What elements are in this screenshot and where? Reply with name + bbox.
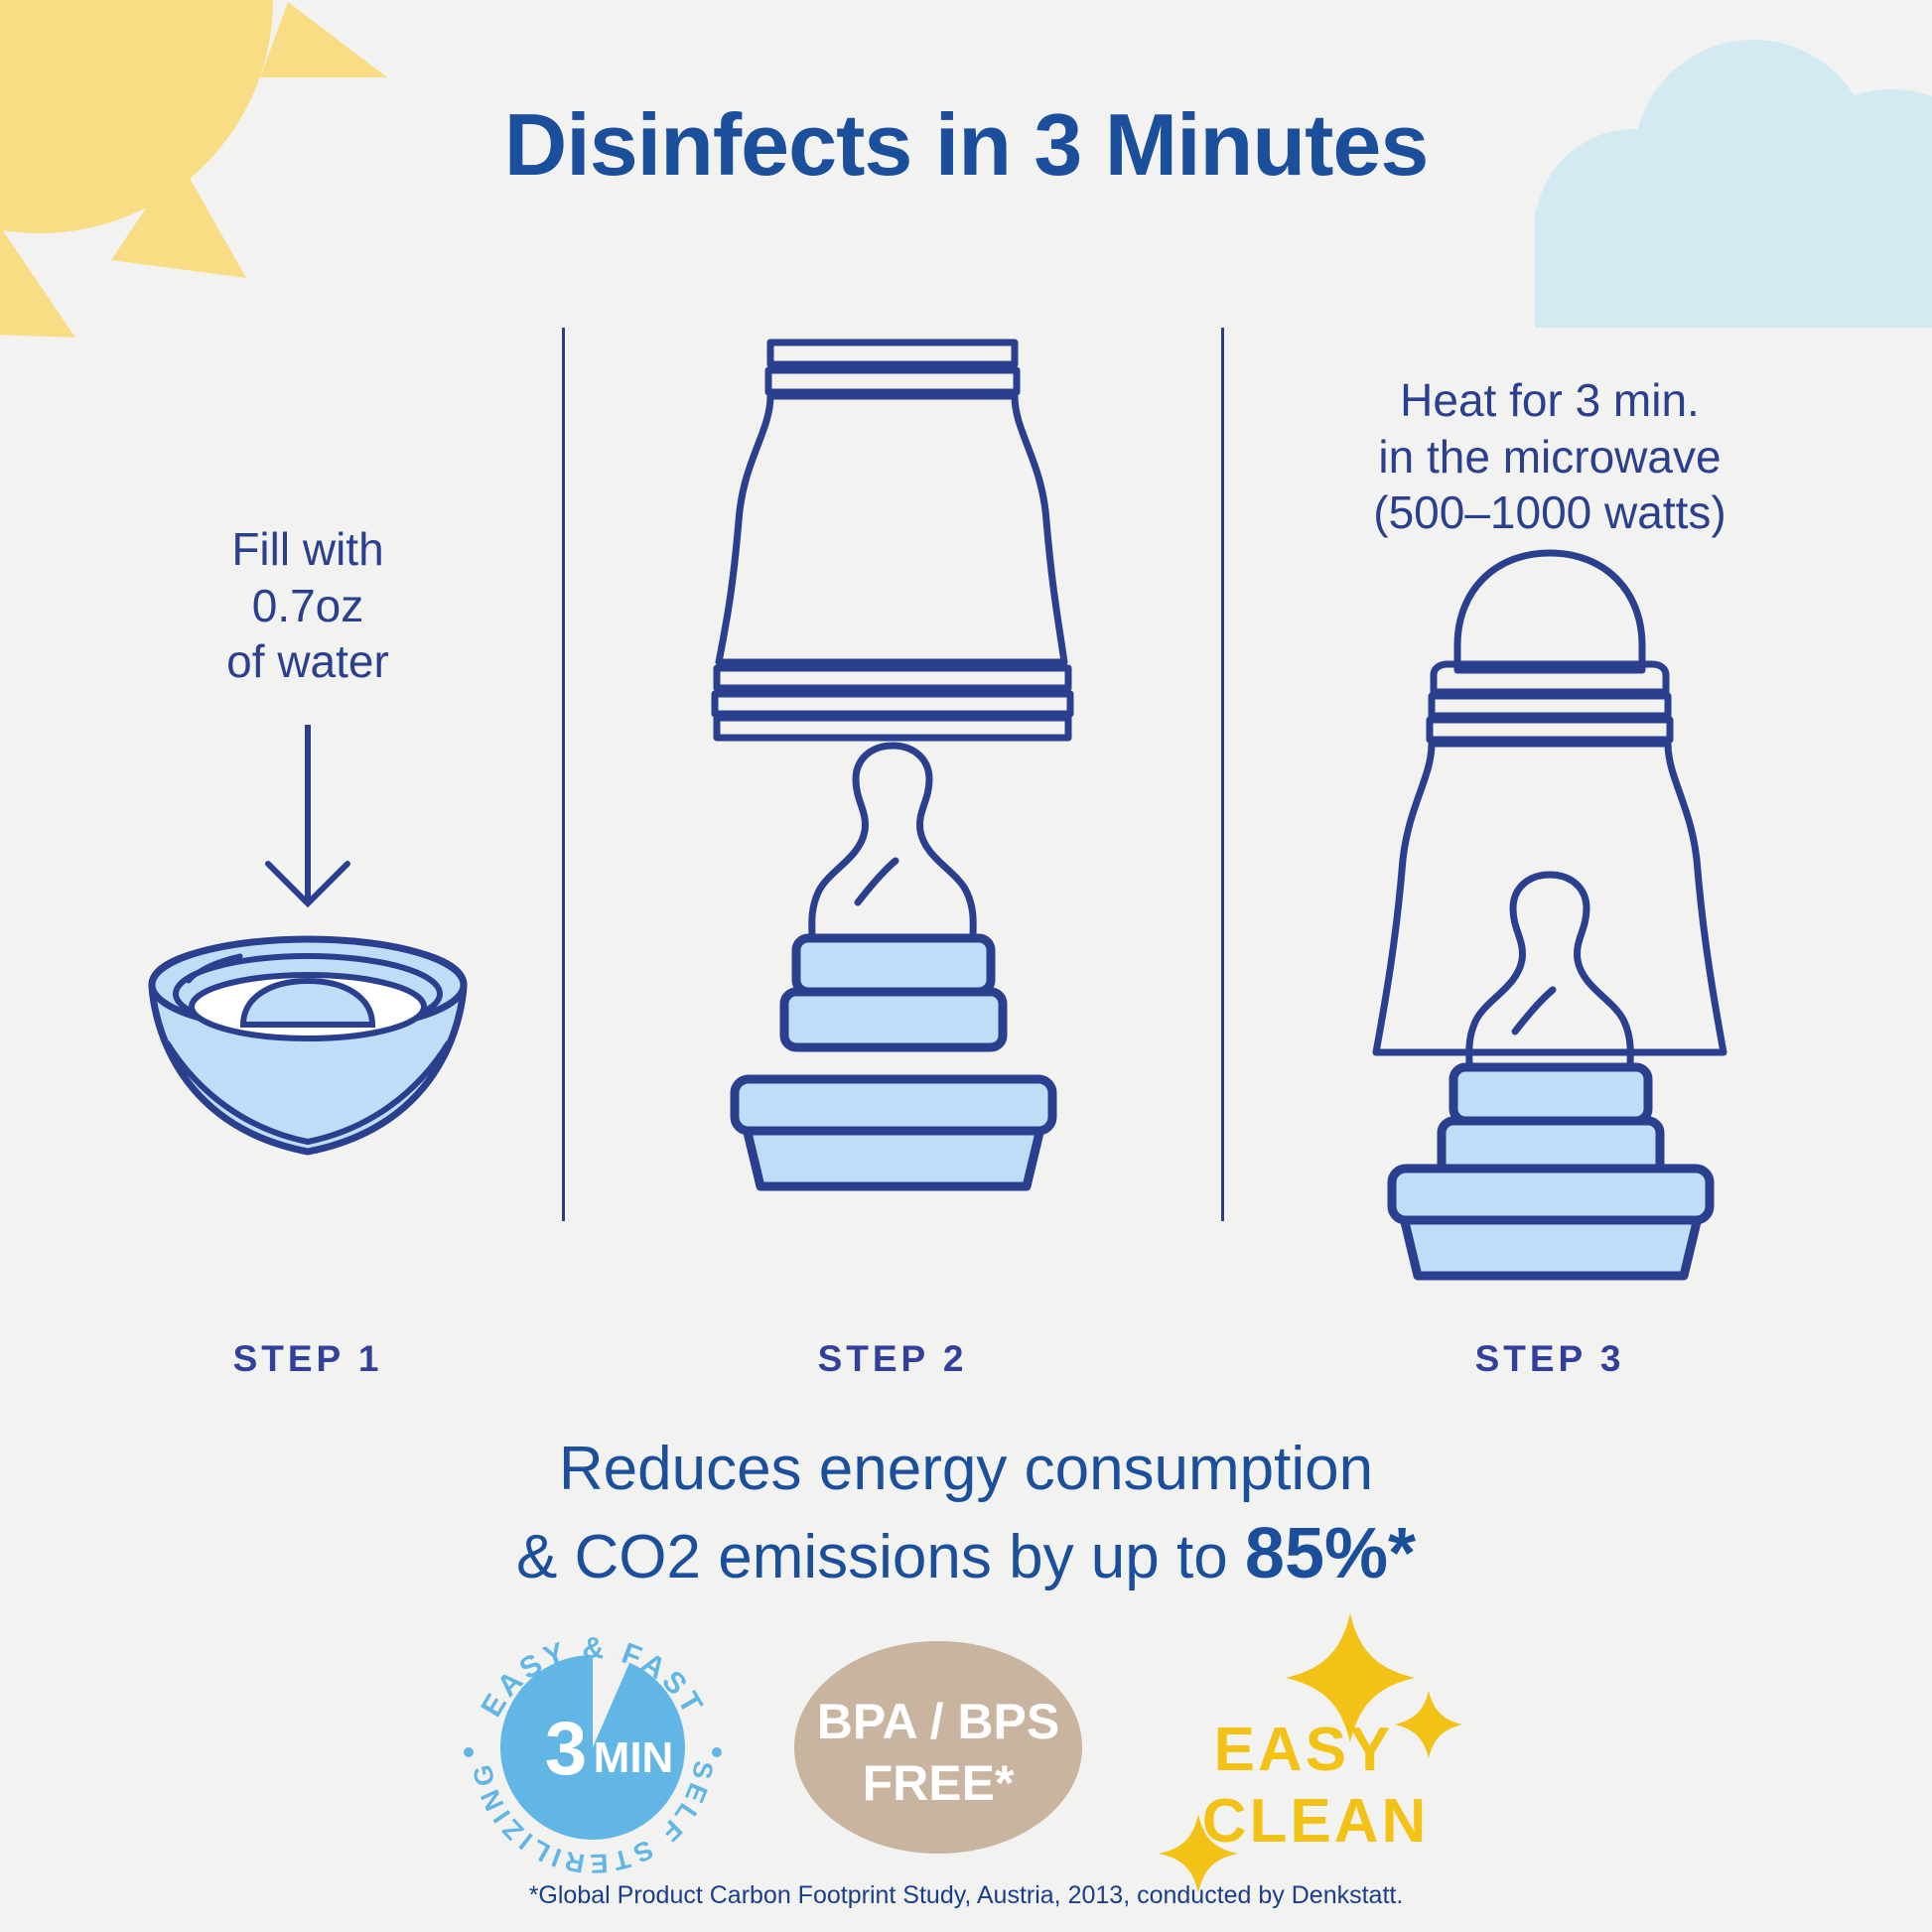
bottle-collar-rings <box>784 938 1003 1047</box>
sparkle-small-icon <box>1395 1691 1462 1758</box>
step-2-label: STEP 2 <box>568 1338 1217 1380</box>
ring-dot-left-icon <box>464 1747 474 1757</box>
bowl-shape <box>152 939 464 1152</box>
step-divider-2 <box>1221 328 1224 1221</box>
energy-claim: Reduces energy consumption & CO2 emissio… <box>0 1430 1932 1600</box>
bottle-body-shape <box>1376 744 1724 1052</box>
bpa-badge-line-1: BPA / BPS <box>817 1694 1059 1749</box>
down-arrow-icon <box>268 725 347 903</box>
step-3-label: STEP 3 <box>1227 1338 1872 1380</box>
bottle-collar-rings <box>1442 1067 1660 1176</box>
bottle-teat-shape <box>812 746 973 938</box>
easy-clean-badge: EASY CLEAN <box>1147 1603 1464 1891</box>
step-3-column: Heat for 3 min. in the microwave (500–10… <box>1227 328 1872 1320</box>
step-1-caption-line-1: Fill with <box>60 521 556 578</box>
bottle-base-tray <box>735 1079 1052 1186</box>
bottle-teat-shape <box>1469 875 1630 1067</box>
ring-dot-right-icon <box>712 1747 722 1757</box>
bottle-collar-grooves <box>1430 696 1670 740</box>
three-min-badge: 3 MIN EASY & FAST SELF STERILIZING <box>449 1603 737 1891</box>
footnote: *Global Product Carbon Footprint Study, … <box>0 1881 1932 1910</box>
water-bowl-illustration <box>60 725 556 1311</box>
step-1-column: Fill with 0.7oz of water <box>60 328 556 1320</box>
step-1-caption: Fill with 0.7oz of water <box>60 521 556 690</box>
three-min-unit: MIN <box>594 1733 674 1782</box>
step-1-label: STEP 1 <box>60 1338 556 1380</box>
energy-claim-prefix: & CO2 emissions by up to <box>516 1523 1245 1591</box>
bottle-base-tray <box>1392 1169 1710 1276</box>
step-3-caption-line-2: in the microwave <box>1227 429 1872 485</box>
energy-claim-line-1: Reduces energy consumption <box>0 1430 1932 1508</box>
easy-clean-line-2: CLEAN <box>1202 1787 1430 1856</box>
badge-row: 3 MIN EASY & FAST SELF STERILIZING BPA /… <box>0 1603 1932 1862</box>
step-1-caption-line-3: of water <box>60 633 556 690</box>
step-2-column: STEP 2 <box>568 328 1217 1320</box>
easy-clean-line-1: EASY <box>1214 1716 1394 1784</box>
step-3-caption-line-1: Heat for 3 min. <box>1227 372 1872 429</box>
bottle-cap-shape <box>1434 553 1666 692</box>
bottle-body-shape <box>715 343 1070 738</box>
assembled-bottle-illustration <box>1227 482 1872 1286</box>
bpa-free-badge: BPA / BPS FREE* <box>794 1641 1082 1855</box>
infographic-canvas: Disinfects in 3 Minutes Fill with 0.7oz … <box>0 0 1932 1932</box>
energy-claim-highlight: 85%* <box>1245 1514 1416 1593</box>
steps-container: Fill with 0.7oz of water <box>0 328 1932 1330</box>
page-title: Disinfects in 3 Minutes <box>0 94 1932 196</box>
step-divider-1 <box>562 328 565 1221</box>
disassembled-bottle-illustration <box>568 293 1217 1286</box>
three-min-number: 3 <box>545 1707 587 1791</box>
bpa-badge-line-2: FREE* <box>863 1755 1015 1811</box>
energy-claim-line-2: & CO2 emissions by up to 85%* <box>0 1508 1932 1599</box>
step-1-caption-line-2: 0.7oz <box>60 578 556 634</box>
